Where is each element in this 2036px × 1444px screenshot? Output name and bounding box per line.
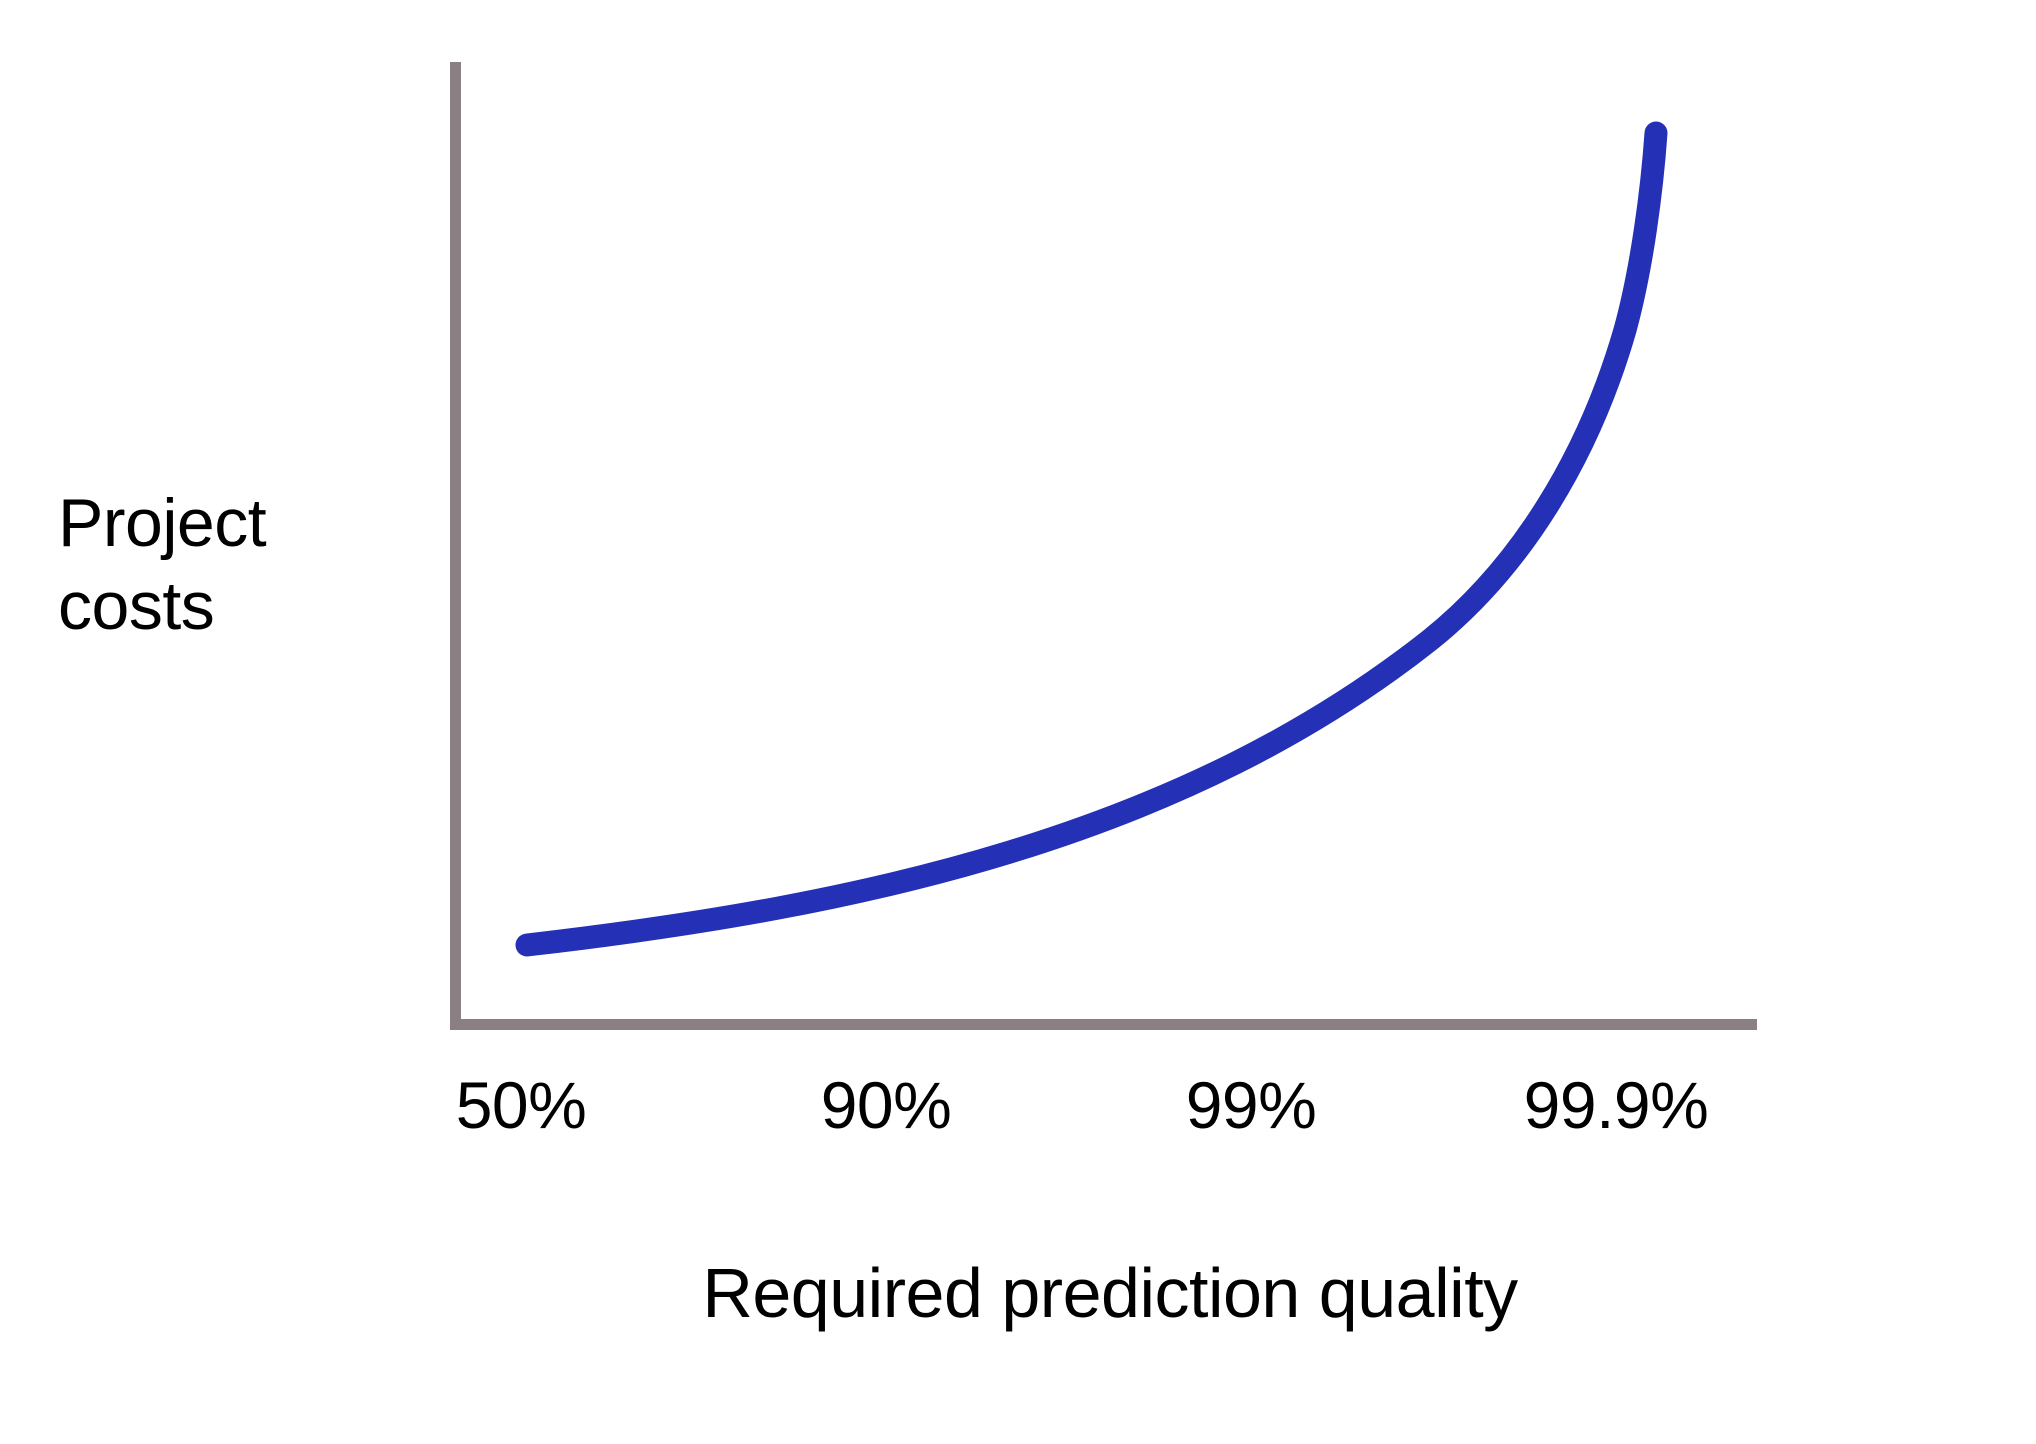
cost-curve (527, 133, 1656, 945)
chart-canvas: Project costs 50% 90% 99% 99.9% Required… (0, 0, 2036, 1444)
x-tick-label-2: 99% (1101, 1072, 1401, 1138)
x-tick-label-1: 90% (736, 1072, 1036, 1138)
x-axis-title: Required prediction quality (450, 1258, 1770, 1328)
y-axis-title: Project costs (58, 482, 398, 648)
x-tick-label-3: 99.9% (1466, 1072, 1766, 1138)
cost-vs-quality-line-chart (0, 0, 2036, 1444)
x-tick-label-0: 50% (371, 1072, 671, 1138)
